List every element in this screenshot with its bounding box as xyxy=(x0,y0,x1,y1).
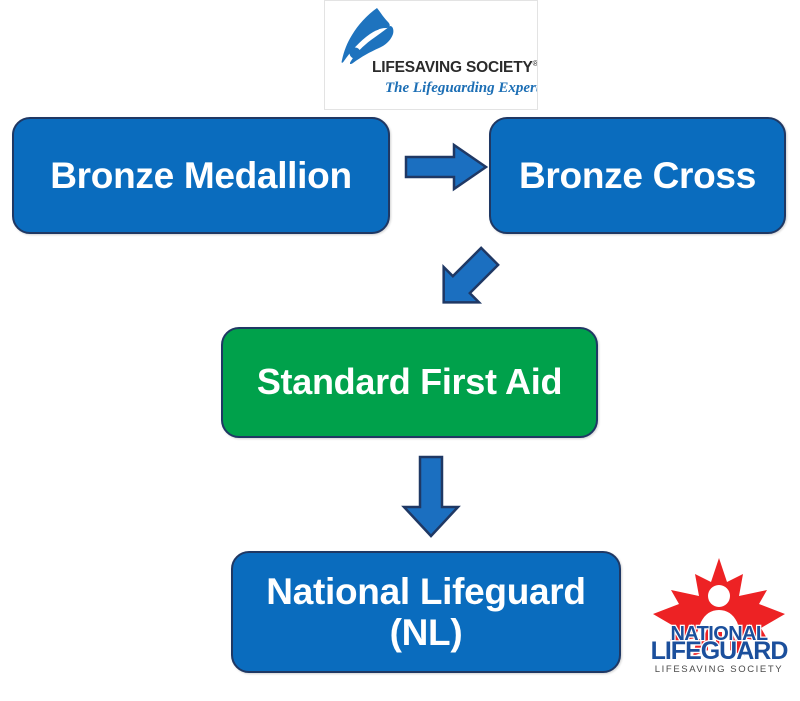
national-lifeguard-logo-line2: LIFEGUARD xyxy=(651,637,788,665)
node-bronze-medallion[interactable]: Bronze Medallion xyxy=(12,117,390,234)
arrow-down-icon xyxy=(400,455,462,539)
diagram-canvas: LIFESAVING SOCIETY® The Lifeguarding Exp… xyxy=(0,0,800,701)
lifesaving-society-logo: LIFESAVING SOCIETY® The Lifeguarding Exp… xyxy=(324,0,538,110)
national-lifeguard-logo-line3: LIFESAVING SOCIETY xyxy=(655,664,783,675)
node-national-lifeguard-label-line1: National Lifeguard xyxy=(266,571,585,612)
node-bronze-cross[interactable]: Bronze Cross xyxy=(489,117,786,234)
arrow-diagonal-down-left-icon xyxy=(430,243,504,315)
national-lifeguard-logo: NATIONAL LIFEGUARD LIFESAVING SOCIETY xyxy=(645,552,793,678)
node-standard-first-aid[interactable]: Standard First Aid xyxy=(221,327,598,438)
lifesaving-society-wordmark-text: LIFESAVING SOCIETY xyxy=(372,59,533,76)
node-bronze-cross-label: Bronze Cross xyxy=(519,155,756,196)
lifesaving-society-wordmark: LIFESAVING SOCIETY® xyxy=(372,59,534,77)
node-bronze-medallion-label: Bronze Medallion xyxy=(50,155,352,196)
node-national-lifeguard-label-line2: (NL) xyxy=(390,612,463,653)
node-national-lifeguard[interactable]: National Lifeguard (NL) xyxy=(231,551,621,673)
node-standard-first-aid-label: Standard First Aid xyxy=(257,362,562,402)
lifesaving-society-tagline: The Lifeguarding Experts xyxy=(385,80,535,97)
national-lifeguard-maple-leaf-icon: NATIONAL LIFEGUARD LIFESAVING SOCIETY xyxy=(645,552,793,678)
registered-trademark-icon: ® xyxy=(533,59,538,68)
arrow-right-icon xyxy=(404,142,488,192)
